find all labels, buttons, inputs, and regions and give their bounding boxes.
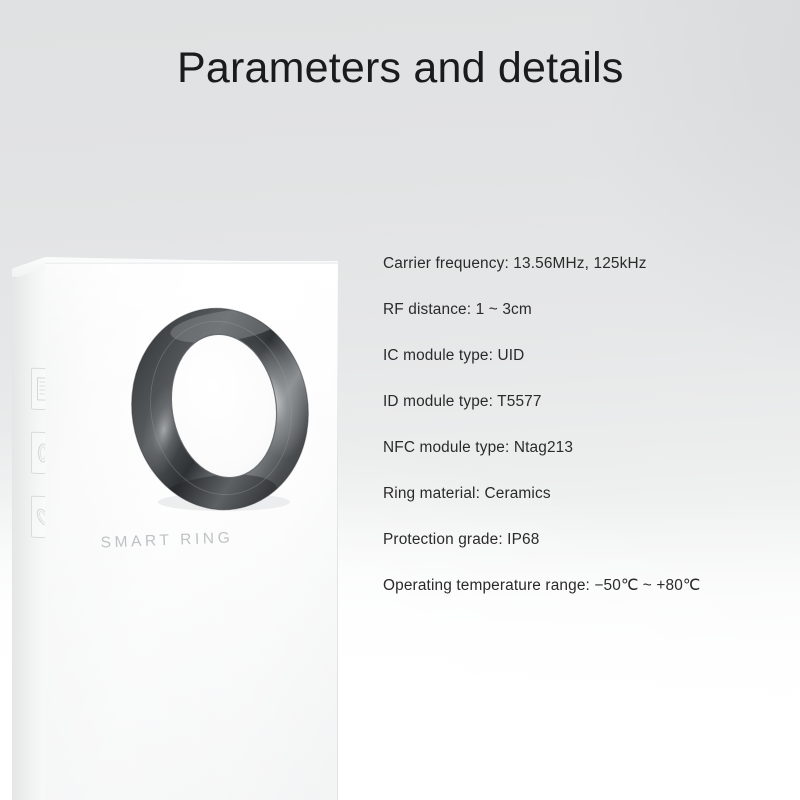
spec-item-carrier-frequency: Carrier frequency: 13.56MHz, 125kHz <box>383 253 783 299</box>
spec-item-id-module-type: ID module type: T5577 <box>383 391 783 437</box>
spec-item-ring-material: Ring material: Ceramics <box>383 483 783 529</box>
product-detail-image: Parameters and details <box>0 0 800 800</box>
package-side-panel <box>12 268 46 800</box>
spec-item-operating-temperature-range: Operating temperature range: −50℃ ~ +80℃ <box>383 575 783 621</box>
spec-item-rf-distance: RF distance: 1 ~ 3cm <box>383 299 783 345</box>
product-package: SMART RING <box>0 250 360 650</box>
page-title: Parameters and details <box>177 44 624 93</box>
specification-list: Carrier frequency: 13.56MHz, 125kHz RF d… <box>383 253 783 621</box>
spec-item-ic-module-type: IC module type: UID <box>383 345 783 391</box>
spec-item-nfc-module-type: NFC module type: Ntag213 <box>383 437 783 483</box>
spec-item-protection-grade: Protection grade: IP68 <box>383 529 783 575</box>
smart-ring-product-photo <box>120 302 320 517</box>
package-top-edge-highlight <box>45 261 338 264</box>
